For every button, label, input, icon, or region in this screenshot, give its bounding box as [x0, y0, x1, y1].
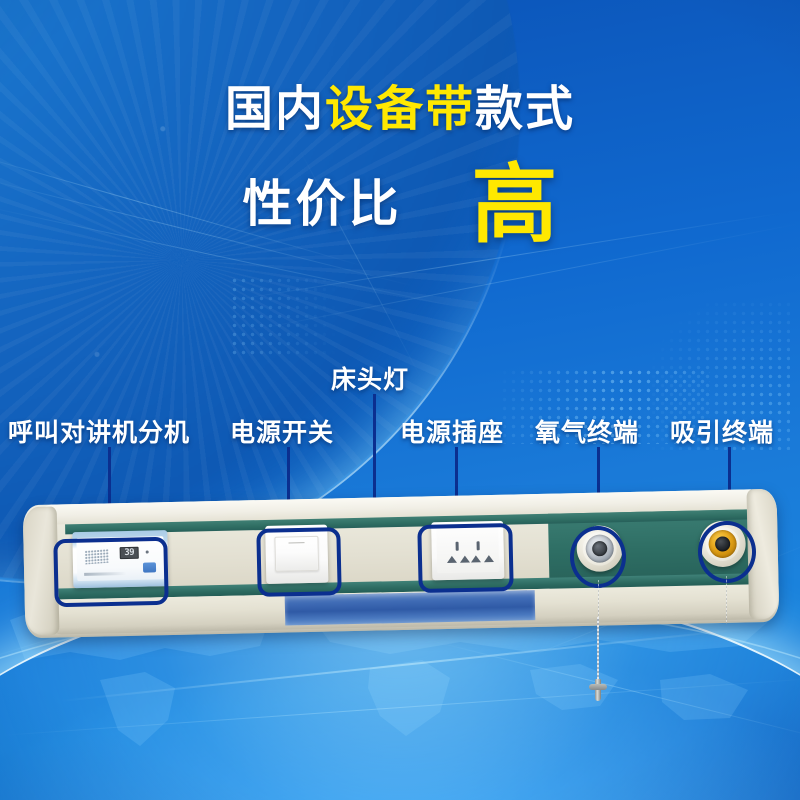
- pull-chain-handle[interactable]: [589, 679, 607, 701]
- highlight-box-switch: [256, 527, 341, 597]
- callout-label-bedlamp: 床头灯: [331, 360, 409, 396]
- pull-handle-stem: [595, 679, 601, 701]
- highlight-box-socket: [417, 523, 513, 593]
- suction-terminal-wire: [726, 576, 727, 624]
- callout-label-suction: 吸引终端: [670, 413, 774, 449]
- bed-lamp-pull-chain[interactable]: [597, 617, 599, 685]
- callout-label-oxygen: 氧气终端: [535, 413, 639, 449]
- halftone-dots-lower-left: [230, 276, 350, 356]
- pull-handle-cross: [589, 684, 607, 690]
- callout-label-switch: 电源开关: [230, 413, 334, 449]
- product-poster: 国内设备带款式 性价比 高 呼叫对讲机分机 电源开关 床头灯 电源插座 氧气终端…: [0, 0, 800, 800]
- highlight-circle-suction: [698, 521, 756, 583]
- callout-label-intercom: 呼叫对讲机分机: [8, 413, 190, 449]
- highlight-circle-oxygen: [570, 526, 626, 588]
- highlight-box-intercom: [53, 537, 168, 607]
- callout-label-socket: 电源插座: [400, 413, 504, 449]
